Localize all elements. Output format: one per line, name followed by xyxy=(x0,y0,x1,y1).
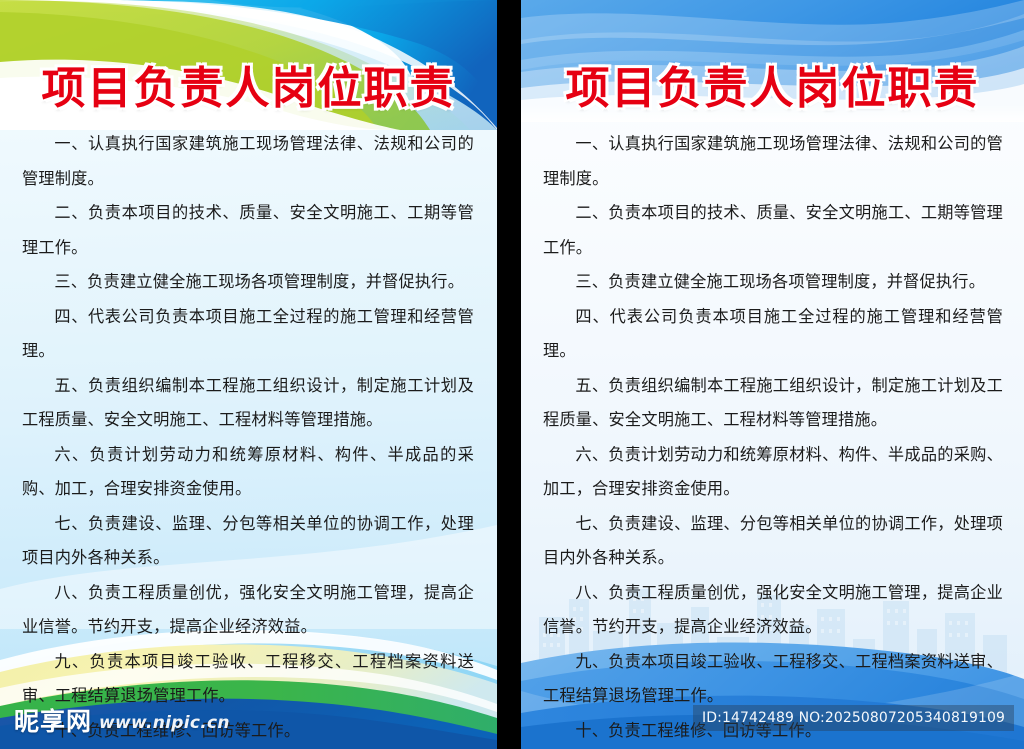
page-title-left: 项目负责人岗位职责 xyxy=(0,63,497,115)
clause-item: 三、负责建立健全施工现场各项管理制度，并督促执行。 xyxy=(22,265,474,300)
clause-item: 四、代表公司负责本项目施工全过程的施工管理和经营管理。 xyxy=(22,300,474,369)
clause-item: 三、负责建立健全施工现场各项管理制度，并督促执行。 xyxy=(543,265,1003,300)
clause-item: 五、负责组织编制本工程施工组织设计，制定施工计划及工程质量、安全文明施工、工程材… xyxy=(543,369,1003,438)
watermark-url: www.nipic.cn xyxy=(99,713,230,735)
site-watermark: 昵享网 www.nipic.cn xyxy=(14,709,230,735)
watermark-brand: 昵享网 xyxy=(14,709,92,735)
clause-item: 七、负责建设、监理、分包等相关单位的协调工作，处理项目内外各种关系。 xyxy=(22,507,474,576)
clause-item: 九、负责本项目竣工验收、工程移交、工程档案资料送审、工程结算退场管理工作。 xyxy=(22,645,474,714)
poster-stage: 项目负责人岗位职责 一、认真执行国家建筑施工现场管理法律、法规和公司的管理制度。… xyxy=(0,0,1024,749)
page-title-right: 项目负责人岗位职责 xyxy=(521,63,1024,115)
clause-list-right: 一、认真执行国家建筑施工现场管理法律、法规和公司的管理制度。 二、负责本项目的技… xyxy=(543,127,1003,748)
clause-item: 九、负责本项目竣工验收、工程移交、工程档案资料送审、工程结算退场管理工作。 xyxy=(543,645,1003,714)
clause-list-left: 一、认真执行国家建筑施工现场管理法律、法规和公司的管理制度。 二、负责本项目的技… xyxy=(22,127,474,748)
clause-item: 二、负责本项目的技术、质量、安全文明施工、工期等管理工作。 xyxy=(543,196,1003,265)
panel-divider xyxy=(497,0,521,749)
clause-item: 一、认真执行国家建筑施工现场管理法律、法规和公司的管理制度。 xyxy=(543,127,1003,196)
poster-panel-left: 项目负责人岗位职责 一、认真执行国家建筑施工现场管理法律、法规和公司的管理制度。… xyxy=(0,0,497,749)
image-id-badge: ID:14742489 NO:20250807205340819109 xyxy=(693,705,1014,731)
clause-item: 五、负责组织编制本工程施工组织设计，制定施工计划及工程质量、安全文明施工、工程材… xyxy=(22,369,474,438)
clause-item: 六、负责计划劳动力和统筹原材料、构件、半成品的采购、加工，合理安排资金使用。 xyxy=(543,438,1003,507)
clause-item: 七、负责建设、监理、分包等相关单位的协调工作，处理项目内外各种关系。 xyxy=(543,507,1003,576)
poster-panel-right: 项目负责人岗位职责 一、认真执行国家建筑施工现场管理法律、法规和公司的管理制度。… xyxy=(521,0,1024,749)
clause-item: 八、负责工程质量创优，强化安全文明施工管理，提高企业信誉。节约开支，提高企业经济… xyxy=(22,576,474,645)
clause-item: 六、负责计划劳动力和统筹原材料、构件、半成品的采购、加工，合理安排资金使用。 xyxy=(22,438,474,507)
clause-item: 一、认真执行国家建筑施工现场管理法律、法规和公司的管理制度。 xyxy=(22,127,474,196)
clause-item: 四、代表公司负责本项目施工全过程的施工管理和经营管理。 xyxy=(543,300,1003,369)
clause-item: 八、负责工程质量创优，强化安全文明施工管理，提高企业信誉。节约开支，提高企业经济… xyxy=(543,576,1003,645)
clause-item: 二、负责本项目的技术、质量、安全文明施工、工期等管理工作。 xyxy=(22,196,474,265)
